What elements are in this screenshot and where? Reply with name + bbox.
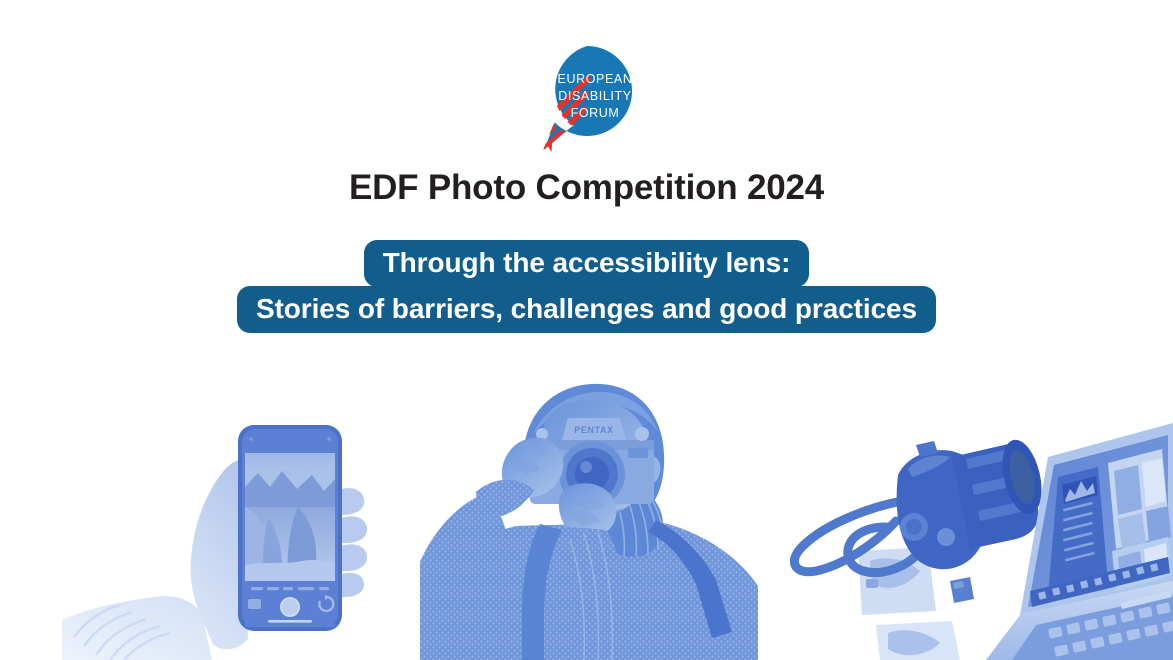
logo-text-line3: FORUM <box>570 106 619 120</box>
svg-text:PENTAX: PENTAX <box>574 425 613 435</box>
page-title: EDF Photo Competition 2024 <box>0 168 1173 208</box>
subtitle-row-2: Stories of barriers, challenges and good… <box>0 286 1173 333</box>
sd-card <box>950 577 974 603</box>
subtitle-line-2: Stories of barriers, challenges and good… <box>237 286 936 333</box>
smartphone <box>238 425 342 631</box>
subtitle-line-1: Through the accessibility lens: <box>364 240 810 287</box>
logo-container: EUROPEAN DISABILITY FORUM <box>0 38 1173 158</box>
photo-hand-holding-smartphone <box>62 415 402 660</box>
photo-collage: PENTAX <box>0 360 1173 660</box>
subtitle-row-1: Through the accessibility lens: <box>0 240 1173 287</box>
poster-canvas: EUROPEAN DISABILITY FORUM EDF Photo Comp… <box>0 0 1173 660</box>
photo-camera-and-laptop <box>790 415 1173 660</box>
european-disability-forum-logo: EUROPEAN DISABILITY FORUM <box>528 38 646 156</box>
subtitle-banner: Through the accessibility lens: Stories … <box>0 240 1173 333</box>
logo-text-line2: DISABILITY <box>558 89 631 103</box>
dslr-camera <box>897 436 1048 569</box>
logo-text-line1: EUROPEAN <box>557 72 632 86</box>
photo-photographer-with-camera: PENTAX <box>420 370 765 660</box>
